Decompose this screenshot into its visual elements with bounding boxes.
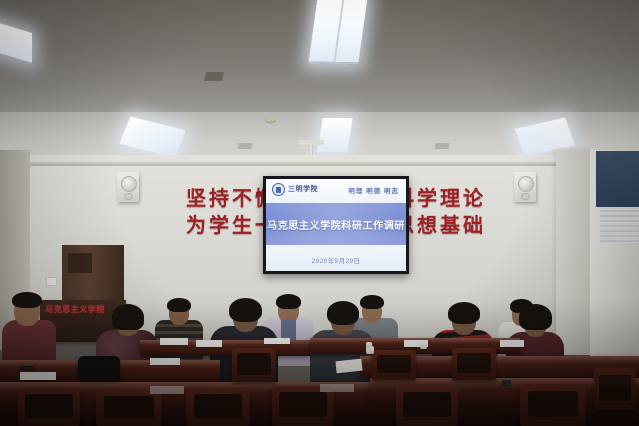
- paper-cup-2: [420, 342, 427, 349]
- pen: [20, 366, 34, 370]
- slide-motto: 明理 明德 明志: [348, 185, 399, 195]
- document-8: [500, 340, 524, 347]
- door-panel: [68, 253, 92, 273]
- document-9: [150, 386, 184, 394]
- projection-screen: 三明学院 明理 明德 明志 马克思主义学院科研工作调研 2020年9月29日: [263, 176, 409, 274]
- chair-mid-3[interactable]: [452, 348, 496, 380]
- mobile-phone: [502, 380, 511, 385]
- ceiling-light-rear: [308, 0, 367, 64]
- ceiling-fixture-left: [237, 143, 252, 149]
- slide-title: 马克思主义学院科研工作调研: [266, 217, 406, 232]
- curtain-rail: [0, 162, 639, 166]
- meeting-room-photo: 坚持不懈 为学生一 科学理论 思想基础 三明学院 明理 明德 明志 马克思主义学…: [0, 0, 639, 426]
- ceiling-vent: [204, 72, 224, 81]
- wall-speaker-right: [514, 172, 536, 202]
- slide-surface: 三明学院 明理 明德 明志 马克思主义学院科研工作调研 2020年9月29日: [266, 179, 406, 271]
- window-blind: [600, 207, 639, 243]
- chair-mid-2[interactable]: [372, 350, 416, 380]
- wall-speaker-left: [117, 172, 139, 202]
- window-curtain: [596, 151, 639, 207]
- document-5: [264, 338, 290, 344]
- slide-university-logo: 三明学院: [272, 183, 318, 196]
- handbag: [78, 356, 120, 380]
- ceiling-fixture-right: [434, 143, 449, 149]
- document-10: [320, 384, 354, 392]
- chair-mid-1[interactable]: [232, 348, 276, 382]
- slide-date: 2020年9月29日: [266, 255, 406, 265]
- chair-foreground-3[interactable]: [186, 388, 250, 426]
- wall-outlet: [46, 277, 57, 286]
- document-3: [150, 358, 180, 365]
- slide-logo-text: 三明学院: [288, 186, 318, 193]
- smoke-detector-icon: [265, 115, 276, 122]
- right-wall-column: [556, 150, 590, 355]
- chair-foreground-6[interactable]: [520, 384, 586, 426]
- university-seal-icon: [272, 183, 285, 196]
- document-2: [196, 340, 222, 347]
- lectern-label: 马克思主义学院: [44, 304, 106, 315]
- ceiling-light-center: [317, 118, 352, 152]
- chair-foreground-2[interactable]: [96, 390, 162, 426]
- document-1: [160, 338, 188, 345]
- document-4: [20, 372, 56, 380]
- chair-foreground-5[interactable]: [396, 386, 458, 426]
- chair-right-side[interactable]: [594, 368, 636, 410]
- chair-foreground-4[interactable]: [272, 386, 334, 426]
- chair-foreground-1[interactable]: [18, 388, 80, 426]
- paper-cup-3: [366, 342, 372, 348]
